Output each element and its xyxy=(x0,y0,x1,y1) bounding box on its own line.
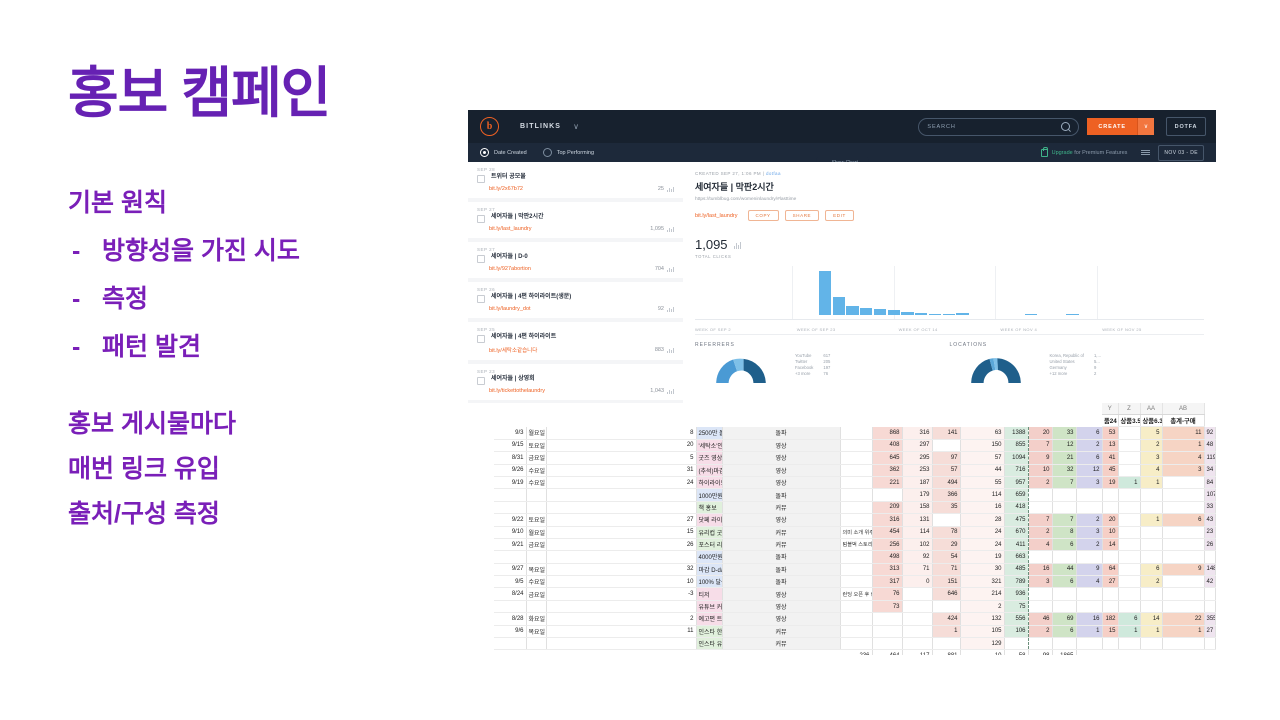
table-cell[interactable]: 3 xyxy=(1076,526,1102,538)
table-cell[interactable]: 9/10 xyxy=(494,526,526,538)
table-cell[interactable] xyxy=(1140,489,1162,501)
table-cell[interactable] xyxy=(840,464,872,476)
table-cell[interactable]: 24 xyxy=(960,538,1004,550)
table-cell[interactable] xyxy=(494,489,526,501)
table-cell[interactable] xyxy=(1052,501,1076,513)
table-cell[interactable]: 27 xyxy=(1102,576,1118,588)
table-cell[interactable] xyxy=(468,625,494,637)
filter-top-performing[interactable]: Top Performing xyxy=(543,148,594,157)
table-cell[interactable] xyxy=(468,464,494,476)
table-cell[interactable]: 32 xyxy=(546,563,696,575)
table-row[interactable]: 9/27목요일32마감 D-day | 오늘은 마감 : 점심 12시돌파313… xyxy=(468,563,1216,575)
table-cell[interactable] xyxy=(840,501,872,513)
table-cell[interactable] xyxy=(840,476,872,488)
table-cell[interactable]: 목요일 xyxy=(526,563,546,575)
table-cell[interactable]: 119 xyxy=(1204,452,1216,464)
table-cell[interactable]: 9/26 xyxy=(494,464,526,476)
table-cell[interactable]: 179 xyxy=(902,489,932,501)
table-cell[interactable]: 인스타 유리컵 굿즈 사진 #1 xyxy=(696,638,722,650)
table-row[interactable]: 9/22토요일27닷페 라이브 편집 : 점심 12시 예약영상31613128… xyxy=(468,514,1216,526)
table-cell[interactable] xyxy=(526,489,546,501)
table-cell[interactable]: 2 xyxy=(1076,439,1102,451)
table-cell[interactable]: 494 xyxy=(932,476,960,488)
table-cell[interactable]: 1000만원 돌파 xyxy=(696,489,722,501)
table-row[interactable]: 9/26수요일31(추석)마감 D-1 | 하이라이트 4편영상36225357… xyxy=(468,464,1216,476)
table-cell[interactable] xyxy=(1076,600,1102,612)
table-cell[interactable]: 46 xyxy=(1028,613,1052,625)
table-cell[interactable]: 수요일 xyxy=(526,464,546,476)
date-range-picker[interactable]: NOV 03 - DE xyxy=(1158,145,1204,161)
table-cell[interactable]: 7 xyxy=(1052,514,1076,526)
table-cell[interactable]: 10 xyxy=(546,576,696,588)
table-cell[interactable]: 31 xyxy=(546,464,696,476)
table-cell[interactable]: 6 xyxy=(1052,625,1076,637)
table-cell[interactable] xyxy=(932,638,960,650)
table-cell[interactable]: 100% 달성 더 가즈아 xyxy=(696,576,722,588)
list-item[interactable]: SEP 27 세여자들 | D-0 bit.ly/927abortion704 xyxy=(468,242,683,278)
table-cell[interactable]: 24 xyxy=(546,476,696,488)
table-cell[interactable]: 645 xyxy=(872,452,902,464)
table-cell[interactable] xyxy=(1118,538,1140,550)
table-cell[interactable]: 131 xyxy=(902,514,932,526)
table-cell[interactable] xyxy=(1118,501,1140,513)
table-cell[interactable] xyxy=(1162,501,1204,513)
table-cell[interactable]: 2 xyxy=(960,600,1004,612)
table-cell[interactable]: 92 xyxy=(902,551,932,563)
table-cell[interactable] xyxy=(840,514,872,526)
table-cell[interactable]: 돌파 xyxy=(722,576,840,588)
table-cell[interactable] xyxy=(1118,427,1140,439)
table-cell[interactable] xyxy=(902,588,932,600)
table-cell[interactable]: 7 xyxy=(1052,476,1076,488)
table-cell[interactable]: 2 xyxy=(1140,439,1162,451)
table-cell[interactable]: 789 xyxy=(1004,576,1028,588)
table-cell[interactable]: 돌파 xyxy=(722,427,840,439)
table-row[interactable]: 9/19수요일24하이라이트 1편영상221187494559572731911… xyxy=(468,476,1216,488)
table-cell[interactable]: 424 xyxy=(932,613,960,625)
table-cell[interactable]: 2 xyxy=(1028,476,1052,488)
table-cell[interactable]: 33 xyxy=(1052,427,1076,439)
column-letter-AA[interactable]: AA xyxy=(1140,403,1162,415)
detail-short-url[interactable]: bit.ly/last_laundry xyxy=(695,213,738,219)
table-cell[interactable]: 646 xyxy=(932,588,960,600)
table-cell[interactable] xyxy=(840,600,872,612)
table-cell[interactable] xyxy=(1052,551,1076,563)
table-cell[interactable]: 6 xyxy=(1076,452,1102,464)
table-cell[interactable]: 6 xyxy=(1052,576,1076,588)
table-cell[interactable]: 8/28 xyxy=(494,613,526,625)
table-cell[interactable]: 71 xyxy=(932,563,960,575)
table-cell[interactable] xyxy=(468,576,494,588)
table-cell[interactable] xyxy=(1102,501,1118,513)
table-cell[interactable] xyxy=(1118,563,1140,575)
table-cell[interactable] xyxy=(526,600,546,612)
table-cell[interactable]: 영상 xyxy=(722,600,840,612)
create-button[interactable]: CREATE xyxy=(1087,118,1137,135)
table-cell[interactable] xyxy=(1076,588,1102,600)
table-cell[interactable] xyxy=(468,439,494,451)
list-item-checkbox[interactable] xyxy=(477,335,485,343)
table-cell[interactable] xyxy=(526,638,546,650)
table-row[interactable]: 인스타 유리컵 굿즈 사진 #1커뮤129 xyxy=(468,638,1216,650)
list-item-checkbox[interactable] xyxy=(477,255,485,263)
list-item-url[interactable]: bit.ly/927abortion xyxy=(489,266,531,272)
table-cell[interactable] xyxy=(902,613,932,625)
list-item[interactable]: SEP 26 세여자들 | 4편 하이라이트(생문) bit.ly/laundr… xyxy=(468,282,683,318)
table-cell[interactable] xyxy=(1118,638,1140,650)
table-cell[interactable]: 9/15 xyxy=(494,439,526,451)
table-cell[interactable]: 69 xyxy=(1052,613,1076,625)
table-cell[interactable] xyxy=(546,600,696,612)
table-cell[interactable]: 34 xyxy=(1204,464,1216,476)
table-cell[interactable]: 토요일 xyxy=(526,514,546,526)
table-cell[interactable] xyxy=(1118,464,1140,476)
table-cell[interactable] xyxy=(1162,588,1204,600)
table-cell[interactable]: 15 xyxy=(1102,625,1118,637)
table-cell[interactable] xyxy=(1102,600,1118,612)
table-cell[interactable]: -3 xyxy=(546,588,696,600)
table-cell[interactable]: 굿즈 영상 (예약 발행) xyxy=(696,452,722,464)
table-cell[interactable] xyxy=(468,551,494,563)
table-cell[interactable]: 7 xyxy=(1028,514,1052,526)
table-cell[interactable] xyxy=(1118,588,1140,600)
table-cell[interactable] xyxy=(932,439,960,451)
table-cell[interactable]: 돌파 xyxy=(722,563,840,575)
table-cell[interactable]: 105 xyxy=(960,625,1004,637)
table-cell[interactable] xyxy=(1076,489,1102,501)
table-cell[interactable] xyxy=(1118,551,1140,563)
edit-button[interactable]: EDIT xyxy=(825,210,854,221)
table-cell[interactable]: 29 xyxy=(932,538,960,550)
table-cell[interactable]: 92 xyxy=(1204,427,1216,439)
table-cell[interactable] xyxy=(1102,588,1118,600)
table-cell[interactable] xyxy=(1052,638,1076,650)
table-cell[interactable]: 16 xyxy=(1076,613,1102,625)
table-cell[interactable]: 27 xyxy=(546,514,696,526)
table-cell[interactable]: 475 xyxy=(1004,514,1028,526)
table-cell[interactable]: 4000만원 돌파! 더 가즈아!! xyxy=(696,551,722,563)
table-cell[interactable] xyxy=(1004,638,1028,650)
table-cell[interactable]: 9 xyxy=(1076,563,1102,575)
table-cell[interactable]: 14 xyxy=(1140,613,1162,625)
table-cell[interactable] xyxy=(902,625,932,637)
list-item-checkbox[interactable] xyxy=(477,215,485,223)
table-cell[interactable] xyxy=(546,638,696,650)
table-cell[interactable]: 317 xyxy=(872,576,902,588)
table-cell[interactable]: 포스터 리워드 소개 xyxy=(696,538,722,550)
table-cell[interactable]: 9/22 xyxy=(494,514,526,526)
table-cell[interactable]: 716 xyxy=(1004,464,1028,476)
table-cell[interactable] xyxy=(1118,576,1140,588)
table-cell[interactable] xyxy=(840,452,872,464)
table-cell[interactable]: 64 xyxy=(1102,563,1118,575)
table-cell[interactable] xyxy=(1028,551,1052,563)
table-cell[interactable] xyxy=(468,600,494,612)
bitly-logo-icon[interactable]: b xyxy=(480,117,499,136)
spreadsheet-overlay[interactable]: YZAAAB품24상품3.5상품6.3총계-구매9/3월요일82500만 돌파돌… xyxy=(468,403,1216,655)
table-cell[interactable]: 3 xyxy=(1162,464,1204,476)
table-cell[interactable] xyxy=(1052,600,1076,612)
table-cell[interactable]: 408 xyxy=(872,439,902,451)
table-row[interactable]: 9/6목요일11인스타 한줄 + 각각 이랑장 스토리텔링커뮤110510626… xyxy=(468,625,1216,637)
list-item-checkbox[interactable] xyxy=(477,295,485,303)
table-cell[interactable] xyxy=(1028,638,1052,650)
table-cell[interactable]: (추석)마감 D-1 | 하이라이트 4편 xyxy=(696,464,722,476)
table-row[interactable]: 9/15토요일20'세탁소'인 이유영상40829715085571221321… xyxy=(468,439,1216,451)
table-cell[interactable]: 런딩 오픈 후 링크 추가 xyxy=(840,588,872,600)
table-cell[interactable] xyxy=(1162,576,1204,588)
chevron-down-icon[interactable]: ∨ xyxy=(573,122,579,131)
list-item[interactable]: SEP 23 세여자들 | 상영회 bit.ly/tickettothelaun… xyxy=(468,364,683,400)
table-cell[interactable] xyxy=(1140,638,1162,650)
table-cell[interactable]: 75 xyxy=(1004,600,1028,612)
table-cell[interactable] xyxy=(526,501,546,513)
table-cell[interactable]: 9/21 xyxy=(494,538,526,550)
table-cell[interactable]: 182 xyxy=(1102,613,1118,625)
table-cell[interactable]: 영상 xyxy=(722,588,840,600)
table-cell[interactable]: 44 xyxy=(1052,563,1076,575)
table-cell[interactable]: 9/27 xyxy=(494,563,526,575)
table-cell[interactable]: 28 xyxy=(960,514,1004,526)
table-cell[interactable] xyxy=(1204,638,1216,650)
table-cell[interactable] xyxy=(1052,588,1076,600)
table-cell[interactable]: 8/31 xyxy=(494,452,526,464)
table-cell[interactable]: 12 xyxy=(1052,439,1076,451)
table-cell[interactable]: 19 xyxy=(960,551,1004,563)
table-cell[interactable]: 영상 xyxy=(722,464,840,476)
table-cell[interactable] xyxy=(1102,551,1118,563)
table-cell[interactable]: 2 xyxy=(546,613,696,625)
create-dropdown-chevron-icon[interactable]: ∨ xyxy=(1137,118,1154,135)
table-cell[interactable]: 텀블벅 스토리텔링에도! xyxy=(840,538,872,550)
table-cell[interactable]: 485 xyxy=(1004,563,1028,575)
table-row[interactable]: 책 홍보커뮤209158351641833 xyxy=(468,501,1216,513)
table-cell[interactable]: 예고편 트윗 xyxy=(696,613,722,625)
table-cell[interactable]: 48 xyxy=(1204,439,1216,451)
table-cell[interactable]: 855 xyxy=(1004,439,1028,451)
table-cell[interactable]: 4 xyxy=(1028,538,1052,550)
table-cell[interactable]: 71 xyxy=(902,563,932,575)
table-cell[interactable] xyxy=(546,501,696,513)
table-cell[interactable]: 32 xyxy=(1052,464,1076,476)
table-cell[interactable] xyxy=(1140,588,1162,600)
table-cell[interactable] xyxy=(1028,489,1052,501)
detail-long-url[interactable]: https://tumblbug.com/womeninlaundry/#las… xyxy=(695,197,1204,202)
table-cell[interactable]: 27 xyxy=(1204,625,1216,637)
table-cell[interactable]: 1 xyxy=(1076,625,1102,637)
table-cell[interactable]: 132 xyxy=(960,613,1004,625)
table-cell[interactable] xyxy=(840,613,872,625)
table-cell[interactable]: 3 xyxy=(1076,476,1102,488)
table-cell[interactable]: 45 xyxy=(1102,464,1118,476)
table-cell[interactable]: 114 xyxy=(902,526,932,538)
table-cell[interactable] xyxy=(1102,489,1118,501)
table-cell[interactable]: 하이라이트 1편 xyxy=(696,476,722,488)
table-cell[interactable] xyxy=(468,452,494,464)
table-cell[interactable]: 8/24 xyxy=(494,588,526,600)
table-cell[interactable]: 3 xyxy=(1028,576,1052,588)
table-cell[interactable]: 24 xyxy=(960,526,1004,538)
table-row[interactable]: 8/31금요일5굿즈 영상 (예약 발행)영상64529597571094921… xyxy=(468,452,1216,464)
table-cell[interactable]: 670 xyxy=(1004,526,1028,538)
list-item-url[interactable]: bit.ly/tickettothelaundry xyxy=(489,388,545,394)
table-cell[interactable]: 141 xyxy=(932,427,960,439)
table-cell[interactable]: 돌파 xyxy=(722,489,840,501)
table-row[interactable]: 유튜브 커뮤니티 업로드영상73275 xyxy=(468,600,1216,612)
table-cell[interactable] xyxy=(1204,551,1216,563)
table-cell[interactable] xyxy=(468,613,494,625)
table-cell[interactable]: 수요일 xyxy=(526,476,546,488)
table-cell[interactable]: 유리컵 굿즈 소개 xyxy=(696,526,722,538)
table-cell[interactable]: 13 xyxy=(1102,439,1118,451)
table-cell[interactable]: 44 xyxy=(960,464,1004,476)
table-cell[interactable]: 214 xyxy=(960,588,1004,600)
table-cell[interactable]: 54 xyxy=(932,551,960,563)
account-button[interactable]: DOTFA xyxy=(1166,117,1206,136)
table-cell[interactable] xyxy=(1140,526,1162,538)
table-cell[interactable] xyxy=(526,551,546,563)
table-cell[interactable] xyxy=(840,638,872,650)
table-cell[interactable]: 97 xyxy=(932,452,960,464)
table-cell[interactable] xyxy=(872,613,902,625)
table-cell[interactable]: 1 xyxy=(1118,476,1140,488)
table-cell[interactable]: 영상 xyxy=(722,452,840,464)
column-letter-AB[interactable]: AB xyxy=(1162,403,1204,415)
table-cell[interactable]: 돌파 xyxy=(722,551,840,563)
table-cell[interactable]: 23 xyxy=(1204,526,1216,538)
table-cell[interactable] xyxy=(932,514,960,526)
table-cell[interactable]: 26 xyxy=(1204,538,1216,550)
table-cell[interactable]: 6 xyxy=(1052,538,1076,550)
table-cell[interactable]: 187 xyxy=(902,476,932,488)
table-cell[interactable] xyxy=(1118,452,1140,464)
list-item-checkbox[interactable] xyxy=(477,175,485,183)
table-cell[interactable]: 76 xyxy=(872,588,902,600)
table-cell[interactable] xyxy=(840,427,872,439)
table-cell[interactable]: 영상 xyxy=(722,476,840,488)
table-cell[interactable]: 150 xyxy=(960,439,1004,451)
table-cell[interactable]: 16 xyxy=(1028,563,1052,575)
table-cell[interactable]: 목요일 xyxy=(526,625,546,637)
table-cell[interactable]: 8 xyxy=(546,427,696,439)
nav-bitlinks-label[interactable]: BITLINKS xyxy=(520,123,561,130)
table-cell[interactable]: 316 xyxy=(872,514,902,526)
table-cell[interactable]: 73 xyxy=(872,600,902,612)
table-cell[interactable]: 663 xyxy=(1004,551,1028,563)
search-input[interactable]: SEARCH xyxy=(918,118,1079,136)
table-cell[interactable] xyxy=(494,638,526,650)
table-cell[interactable] xyxy=(494,501,526,513)
table-cell[interactable] xyxy=(1118,439,1140,451)
table-cell[interactable] xyxy=(840,551,872,563)
table-cell[interactable]: 5 xyxy=(1140,427,1162,439)
table-cell[interactable]: 20 xyxy=(1028,427,1052,439)
table-cell[interactable]: 158 xyxy=(902,501,932,513)
table-cell[interactable]: 57 xyxy=(960,452,1004,464)
table-cell[interactable] xyxy=(546,551,696,563)
table-cell[interactable]: 금요일 xyxy=(526,588,546,600)
table-cell[interactable]: 커뮤 xyxy=(722,526,840,538)
table-cell[interactable]: 월요일 xyxy=(526,427,546,439)
table-cell[interactable]: 1094 xyxy=(1004,452,1028,464)
table-cell[interactable] xyxy=(872,625,902,637)
table-cell[interactable]: 3 xyxy=(1140,452,1162,464)
table-cell[interactable]: 12 xyxy=(1076,464,1102,476)
table-cell[interactable] xyxy=(902,600,932,612)
table-cell[interactable]: 55 xyxy=(960,476,1004,488)
table-cell[interactable] xyxy=(1028,600,1052,612)
table-cell[interactable]: 9 xyxy=(1028,452,1052,464)
table-cell[interactable]: 33 xyxy=(1204,501,1216,513)
table-cell[interactable]: 53 xyxy=(1102,427,1118,439)
table-cell[interactable]: 11 xyxy=(1162,427,1204,439)
table-cell[interactable] xyxy=(932,600,960,612)
table-cell[interactable] xyxy=(468,638,494,650)
spreadsheet-table[interactable]: YZAAAB품24상품3.5상품6.3총계-구매9/3월요일82500만 돌파돌… xyxy=(468,403,1216,655)
list-item[interactable]: SEP 28 트위터 공모물 bit.ly/2x67b7225 xyxy=(468,162,683,198)
table-cell[interactable]: 2 xyxy=(1028,625,1052,637)
table-cell[interactable]: 209 xyxy=(872,501,902,513)
table-cell[interactable]: 43 xyxy=(1204,514,1216,526)
table-cell[interactable]: 20 xyxy=(1102,514,1118,526)
filter-sliders-icon[interactable] xyxy=(1141,150,1150,155)
table-cell[interactable] xyxy=(1162,551,1204,563)
table-cell[interactable] xyxy=(468,563,494,575)
table-cell[interactable]: 556 xyxy=(1004,613,1028,625)
table-row[interactable]: 1000만원 돌파돌파179366114659107 xyxy=(468,489,1216,501)
list-item-url[interactable]: bit.ly/세탁소같습니다 xyxy=(489,346,537,354)
table-cell[interactable] xyxy=(840,563,872,575)
table-cell[interactable] xyxy=(1102,638,1118,650)
list-item-checkbox[interactable] xyxy=(477,377,485,385)
table-cell[interactable] xyxy=(1140,600,1162,612)
table-cell[interactable] xyxy=(468,514,494,526)
table-cell[interactable]: 151 xyxy=(932,576,960,588)
table-cell[interactable]: 인스타 한줄 + 각각 이랑장 스토리텔링 xyxy=(696,625,722,637)
table-cell[interactable] xyxy=(1028,588,1052,600)
table-cell[interactable]: 0 xyxy=(902,576,932,588)
table-cell[interactable]: 10 xyxy=(1102,526,1118,538)
table-cell[interactable]: 월요일 xyxy=(526,526,546,538)
table-cell[interactable]: 9/5 xyxy=(494,576,526,588)
table-cell[interactable] xyxy=(1162,638,1204,650)
table-cell[interactable]: 148 xyxy=(1204,563,1216,575)
table-cell[interactable]: 2 xyxy=(1076,514,1102,526)
upgrade-banner[interactable]: Upgrade for Premium Features xyxy=(1052,150,1128,156)
table-cell[interactable] xyxy=(1118,489,1140,501)
table-cell[interactable]: 936 xyxy=(1004,588,1028,600)
table-cell[interactable]: 수요일 xyxy=(526,576,546,588)
table-cell[interactable]: 11 xyxy=(546,625,696,637)
table-cell[interactable]: 9/6 xyxy=(494,625,526,637)
table-cell[interactable]: 256 xyxy=(872,538,902,550)
table-cell[interactable] xyxy=(1076,638,1102,650)
table-cell[interactable]: 355 xyxy=(1204,613,1216,625)
table-cell[interactable]: 1 xyxy=(1162,439,1204,451)
table-cell[interactable] xyxy=(1118,600,1140,612)
table-cell[interactable]: 1 xyxy=(1140,514,1162,526)
table-row[interactable]: 8/24금요일-3티저영상런딩 오픈 후 링크 추가76646214936 xyxy=(468,588,1216,600)
table-cell[interactable] xyxy=(840,576,872,588)
table-cell[interactable]: 책 홍보 xyxy=(696,501,722,513)
table-cell[interactable]: 22 xyxy=(1162,613,1204,625)
table-cell[interactable]: 커뮤 xyxy=(722,538,840,550)
table-cell[interactable]: 영상 xyxy=(722,514,840,526)
table-cell[interactable]: 2500만 돌파 xyxy=(696,427,722,439)
list-item-url[interactable]: bit.ly/last_laundry xyxy=(489,226,532,232)
table-cell[interactable] xyxy=(1162,489,1204,501)
table-cell[interactable]: 129 xyxy=(960,638,1004,650)
